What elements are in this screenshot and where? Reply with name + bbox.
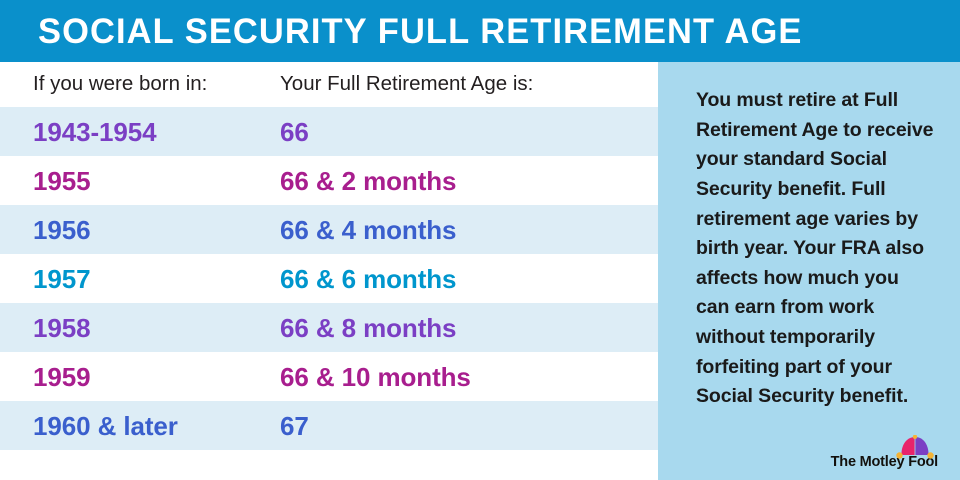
cell-full-retirement-age: 66 & 6 months [280, 266, 456, 292]
sidebar-body-text: You must retire at Full Retirement Age t… [696, 86, 936, 412]
table-row: 1955 66 & 2 months [0, 156, 658, 205]
column-header-full-retirement-age: Your Full Retirement Age is: [280, 74, 533, 95]
cell-birth-year: 1960 & later [0, 413, 280, 439]
header-bar: SOCIAL SECURITY FULL RETIREMENT AGE [0, 0, 960, 62]
cell-full-retirement-age: 66 [280, 119, 309, 145]
page-title: SOCIAL SECURITY FULL RETIREMENT AGE [38, 14, 803, 49]
jester-hat-icon [892, 435, 938, 459]
cell-birth-year: 1956 [0, 217, 280, 243]
table-row: 1943-1954 66 [0, 107, 658, 156]
cell-full-retirement-age: 66 & 2 months [280, 168, 456, 194]
table-row: 1957 66 & 6 months [0, 254, 658, 303]
explanation-sidebar: You must retire at Full Retirement Age t… [658, 62, 960, 480]
table-row: 1959 66 & 10 months [0, 352, 658, 401]
table-row: 1958 66 & 8 months [0, 303, 658, 352]
table-header-row: If you were born in: Your Full Retiremen… [0, 62, 658, 107]
body-area: If you were born in: Your Full Retiremen… [0, 62, 960, 480]
cell-birth-year: 1957 [0, 266, 280, 292]
cell-full-retirement-age: 67 [280, 413, 309, 439]
cell-birth-year: 1958 [0, 315, 280, 341]
retirement-age-table: If you were born in: Your Full Retiremen… [0, 62, 658, 480]
motley-fool-logo: The Motley Fool [831, 455, 938, 471]
cell-full-retirement-age: 66 & 10 months [280, 364, 471, 390]
cell-birth-year: 1955 [0, 168, 280, 194]
cell-birth-year: 1959 [0, 364, 280, 390]
table-row: 1956 66 & 4 months [0, 205, 658, 254]
cell-full-retirement-age: 66 & 4 months [280, 217, 456, 243]
cell-birth-year: 1943-1954 [0, 119, 280, 145]
infographic-root: SOCIAL SECURITY FULL RETIREMENT AGE If y… [0, 0, 960, 480]
cell-full-retirement-age: 66 & 8 months [280, 315, 456, 341]
table-row: 1960 & later 67 [0, 401, 658, 450]
column-header-birth-year: If you were born in: [0, 74, 280, 95]
